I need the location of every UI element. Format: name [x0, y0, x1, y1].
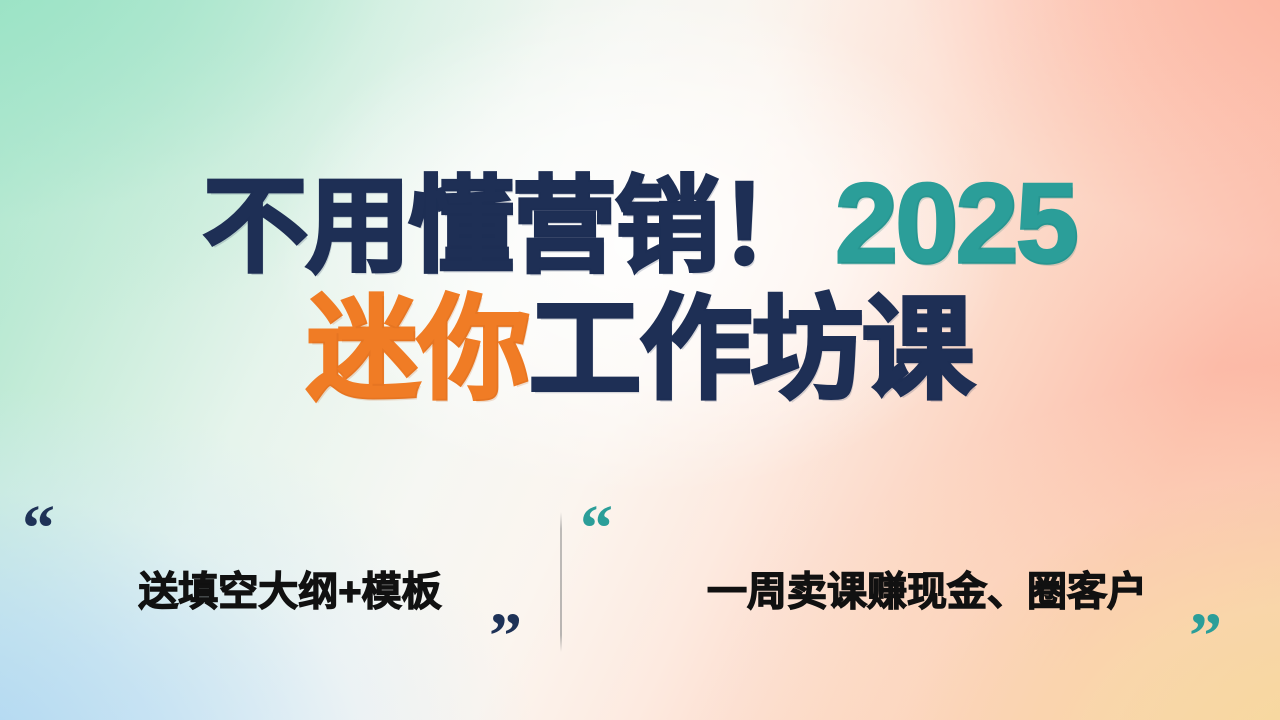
quote-close-icon: ” — [1189, 604, 1222, 670]
benefit-quote-left: “ 送填空大纲+模板 ” — [0, 492, 560, 672]
quote-open-icon: “ — [22, 496, 55, 562]
headline-line-2: 迷你工作坊课 — [0, 294, 1280, 406]
headline-segment-year: 2025 — [835, 161, 1076, 286]
benefit-quote-right-text: 一周卖课赚现金、圈客户 — [707, 559, 1147, 617]
benefit-quote-left-text: 送填空大纲+模板 — [138, 559, 441, 617]
benefit-quote-strip: “ 送填空大纲+模板 ” “ 一周卖课赚现金、圈客户 ” — [0, 492, 1280, 672]
quote-close-icon: ” — [489, 604, 522, 670]
quote-open-icon: “ — [580, 496, 613, 562]
promo-poster: 不用懂营销！2025 迷你工作坊课 “ 送填空大纲+模板 ” “ 一周卖课赚现金… — [0, 0, 1280, 720]
headline-segment-mini: 迷你 — [307, 287, 529, 412]
benefit-quote-right: “ 一周卖课赚现金、圈客户 ” — [562, 492, 1280, 672]
headline-segment-no-marketing: 不用懂营销！ — [203, 169, 821, 285]
headline: 不用懂营销！2025 迷你工作坊课 — [0, 168, 1280, 406]
headline-segment-workshop-course: 工作坊课 — [529, 287, 973, 412]
headline-line-1: 不用懂营销！2025 — [0, 168, 1280, 280]
